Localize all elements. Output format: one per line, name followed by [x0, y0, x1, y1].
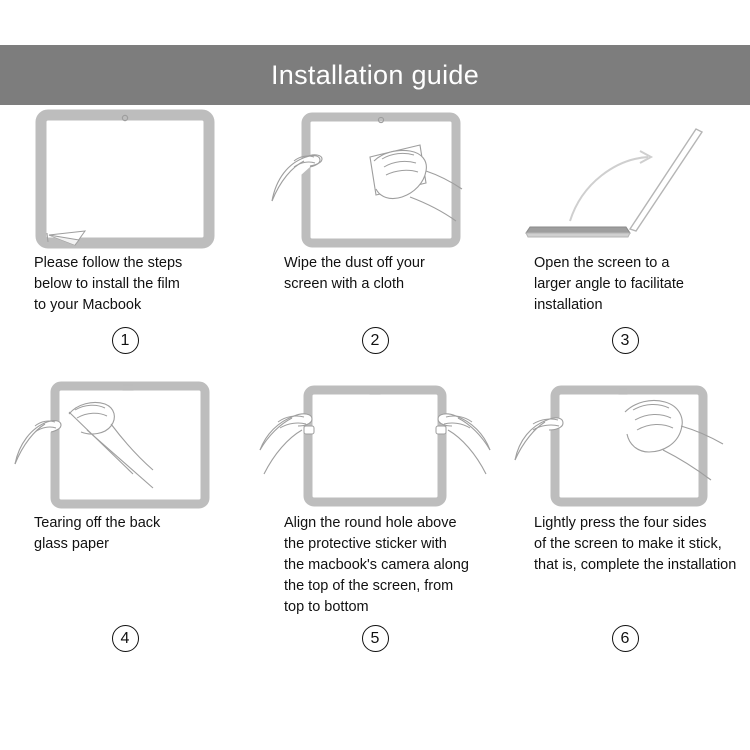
step-4-text: Tearing off the back glass paper — [14, 513, 236, 625]
step-2-illustration — [264, 105, 486, 253]
step-1-line-2: below to install the film — [34, 274, 232, 295]
page-title: Installation guide — [271, 62, 479, 89]
step-3-line-3: installation — [534, 295, 732, 316]
step-2-number-wrap: 2 — [264, 327, 486, 375]
step-1-line-3: to your Macbook — [34, 295, 232, 316]
laptop-opening-with-arrow-icon — [520, 109, 730, 249]
step-number-badge-1: 1 — [112, 327, 139, 354]
step-3-text: Open the screen to a larger angle to fac… — [514, 253, 736, 327]
step-6-line-2: of the screen to make it stick, — [534, 534, 732, 555]
step-2-text: Wipe the dust off your screen with a clo… — [264, 253, 486, 327]
step-3-number-wrap: 3 — [514, 327, 736, 375]
step-number-badge-4: 4 — [112, 625, 139, 652]
step-card-2: Wipe the dust off your screen with a clo… — [250, 105, 500, 375]
header-bar: Installation guide — [0, 45, 750, 105]
step-5-line-2: the protective sticker with — [284, 534, 482, 555]
steps-grid: Please follow the steps below to install… — [0, 105, 750, 669]
step-5-text: Align the round hole above the protectiv… — [264, 513, 486, 625]
step-3-illustration — [514, 105, 736, 253]
step-1-text: Please follow the steps below to install… — [14, 253, 236, 327]
step-6-line-3: that is, complete the installation — [534, 555, 732, 576]
step-2-line-1: Wipe the dust off your — [284, 253, 482, 274]
step-6-line-1: Lightly press the four sides — [534, 513, 732, 534]
step-card-6: Lightly press the four sides of the scre… — [500, 375, 750, 669]
step-number-badge-6: 6 — [612, 625, 639, 652]
installation-guide-page: Installation guide Please follow the ste… — [0, 0, 750, 750]
step-1-illustration — [14, 105, 236, 253]
step-number-badge-2: 2 — [362, 327, 389, 354]
step-3-line-2: larger angle to facilitate — [534, 274, 732, 295]
hands-tearing-back-paper-icon — [13, 378, 238, 510]
step-6-illustration — [514, 375, 736, 513]
step-3-line-1: Open the screen to a — [534, 253, 732, 274]
two-hands-aligning-film-icon — [260, 378, 490, 510]
hands-wiping-screen-with-cloth-icon — [270, 109, 480, 249]
step-card-5: Align the round hole above the protectiv… — [250, 375, 500, 669]
step-4-number-wrap: 4 — [14, 625, 236, 669]
step-5-number-wrap: 5 — [264, 625, 486, 669]
step-number-badge-5: 5 — [362, 625, 389, 652]
step-5-line-1: Align the round hole above — [284, 513, 482, 534]
step-4-line-2: glass paper — [34, 534, 232, 555]
step-card-3: Open the screen to a larger angle to fac… — [500, 105, 750, 375]
step-5-illustration — [264, 375, 486, 513]
step-1-number-wrap: 1 — [14, 327, 236, 375]
step-number-badge-3: 3 — [612, 327, 639, 354]
tablet-with-peeling-film-corner-icon — [35, 109, 215, 249]
step-6-text: Lightly press the four sides of the scre… — [514, 513, 736, 625]
step-5-line-4: the top of the screen, from — [284, 576, 482, 597]
hand-pressing-screen-edges-icon — [513, 378, 738, 510]
step-5-line-5: top to bottom — [284, 597, 482, 618]
step-5-line-3: the macbook's camera along — [284, 555, 482, 576]
step-card-1: Please follow the steps below to install… — [0, 105, 250, 375]
step-1-line-1: Please follow the steps — [34, 253, 232, 274]
step-card-4: Tearing off the back glass paper 4 — [0, 375, 250, 669]
step-6-number-wrap: 6 — [514, 625, 736, 669]
step-2-line-2: screen with a cloth — [284, 274, 482, 295]
step-4-illustration — [14, 375, 236, 513]
step-4-line-1: Tearing off the back — [34, 513, 232, 534]
